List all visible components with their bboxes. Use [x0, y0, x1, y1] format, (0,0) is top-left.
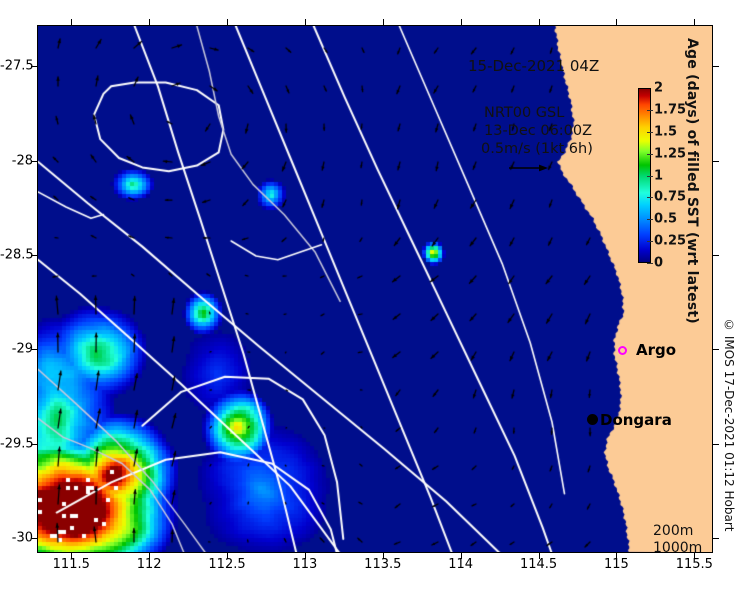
x-axis-tick: [305, 553, 306, 559]
depth-legend: 200m 1000m: [653, 523, 702, 553]
colorbar-tick-label: 0.25: [654, 234, 686, 249]
annotation-vector-scale: 0.5m/s (1kt 6h): [481, 141, 593, 157]
colorbar-tick: [647, 241, 653, 242]
imos-sst-age-map-figure: 15-Dec-2021 04Z NRT00 GSL 13-Dec 06:00Z …: [0, 0, 740, 592]
y-axis-tick: [31, 161, 37, 162]
colorbar-tick-label: 1: [654, 168, 663, 183]
y-axis-tick-label: -28: [0, 153, 33, 168]
y-axis-tick: [31, 538, 37, 539]
colorbar-tick-label: 0.5: [654, 212, 677, 227]
dongara-label: Dongara: [600, 411, 672, 429]
x-axis-tick: [227, 19, 228, 25]
x-axis-tick: [616, 19, 617, 25]
x-axis-tick: [694, 19, 695, 25]
colorbar-title: Age (days) of filled SST (wrt latest): [684, 38, 700, 324]
colorbar-tick-label: 0: [654, 256, 663, 271]
x-axis-tick-label: 113: [292, 557, 317, 572]
dongara-marker-icon: [587, 414, 598, 425]
x-axis-tick-label: 114.5: [520, 557, 557, 572]
x-axis-tick-label: 114: [448, 557, 473, 572]
x-axis-tick-label: 115.5: [676, 557, 713, 572]
colorbar-tick: [647, 132, 653, 133]
x-axis-tick: [305, 19, 306, 25]
annotation-datetime: 15-Dec-2021 04Z: [468, 57, 599, 75]
annotation-source: NRT00 GSL: [484, 105, 564, 121]
x-axis-tick: [539, 553, 540, 559]
y-axis-tick: [31, 255, 37, 256]
credit-text: © IMOS 17-Dec-2021 01:12 Hobart: [722, 318, 736, 531]
y-axis-tick-label: -27.5: [0, 59, 33, 74]
depth-legend-200m: 200m: [653, 523, 702, 540]
x-axis-tick-label: 113.5: [364, 557, 401, 572]
depth-legend-1000m: 1000m: [653, 540, 702, 553]
y-axis-tick: [31, 444, 37, 445]
colorbar-tick: [647, 176, 653, 177]
x-axis-tick: [227, 553, 228, 559]
x-axis-tick: [71, 19, 72, 25]
colorbar-tick: [647, 219, 653, 220]
colorbar-tick-label: 1.75: [654, 102, 686, 117]
reference-arrow-icon: [508, 163, 548, 173]
colorbar-tick-label: 2: [654, 81, 663, 96]
colorbar-tick: [647, 110, 653, 111]
colorbar-tick: [647, 197, 653, 198]
x-axis-tick-label: 112.5: [208, 557, 245, 572]
colorbar-tick-label: 0.75: [654, 190, 686, 205]
y-axis-tick: [31, 349, 37, 350]
y-axis-tick-label: -29.5: [0, 436, 33, 451]
colorbar-tick-label: 1.25: [654, 146, 686, 161]
y-axis-tick: [713, 66, 719, 67]
x-axis-tick: [461, 19, 462, 25]
y-axis-tick-label: -30: [0, 530, 33, 545]
x-axis-tick: [539, 19, 540, 25]
x-axis-tick-label: 112: [137, 557, 162, 572]
argo-label: Argo: [636, 341, 676, 359]
x-axis-tick: [149, 19, 150, 25]
y-axis-tick-label: -28.5: [0, 248, 33, 263]
y-axis-tick: [713, 538, 719, 539]
map-plot-area[interactable]: 15-Dec-2021 04Z NRT00 GSL 13-Dec 06:00Z …: [37, 25, 713, 553]
colorbar-tick-label: 1.5: [654, 124, 677, 139]
colorbar-tick: [647, 263, 653, 264]
annotation-source-time: 13-Dec 06:00Z: [484, 123, 592, 139]
y-axis-tick-label: -29: [0, 342, 33, 357]
x-axis-tick: [383, 19, 384, 25]
y-axis-tick: [713, 161, 719, 162]
x-axis-tick: [694, 553, 695, 559]
argo-marker-icon: [618, 346, 627, 355]
x-axis-tick: [71, 553, 72, 559]
x-axis-tick: [461, 553, 462, 559]
x-axis-tick: [616, 553, 617, 559]
y-axis-tick: [713, 255, 719, 256]
sst-age-raster-canvas: [38, 26, 713, 553]
x-axis-tick-label: 111.5: [53, 557, 90, 572]
y-axis-tick: [713, 349, 719, 350]
y-axis-tick: [713, 444, 719, 445]
colorbar-tick: [647, 154, 653, 155]
x-axis-tick-label: 115: [604, 557, 629, 572]
x-axis-tick: [383, 553, 384, 559]
y-axis-tick: [31, 66, 37, 67]
x-axis-tick: [149, 553, 150, 559]
